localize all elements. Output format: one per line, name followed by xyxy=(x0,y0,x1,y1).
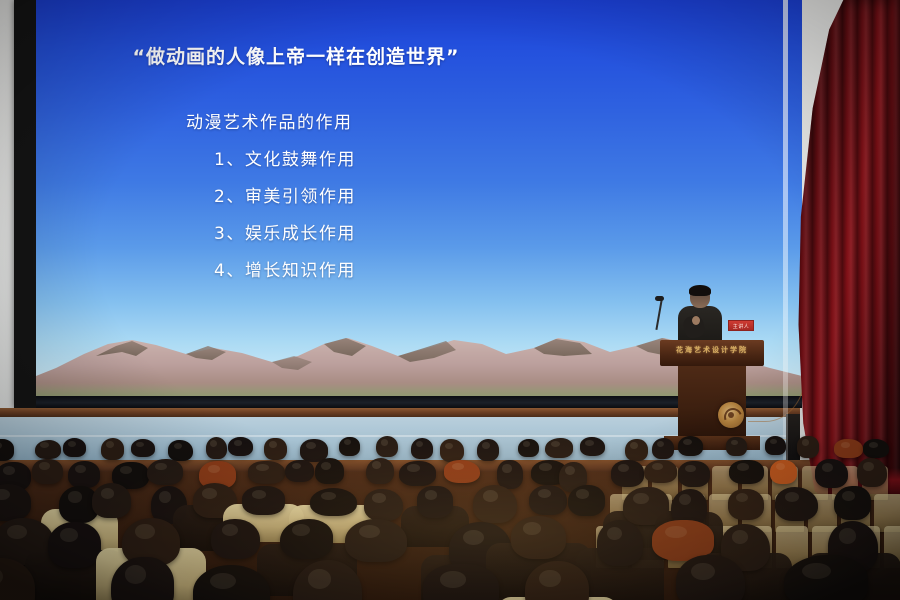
audience-member-head xyxy=(280,519,333,559)
audience-member-head xyxy=(678,461,710,487)
audience-member-head xyxy=(611,460,645,487)
audience-member-head xyxy=(678,436,703,456)
audience-member-head xyxy=(784,555,868,600)
audience-member-head xyxy=(0,439,14,460)
audience-member-head xyxy=(775,487,818,521)
audience-member-head xyxy=(131,439,155,457)
audience-member-head xyxy=(68,461,100,488)
audience-member-head xyxy=(35,440,61,459)
audience-member-head xyxy=(473,485,517,524)
slide-title: “做动画的人像上帝一样在创造世界” xyxy=(36,42,556,69)
audience-member-head xyxy=(206,437,227,459)
name-placard: 主讲人 xyxy=(728,320,754,331)
audience-member-head xyxy=(729,460,764,485)
slide-body: 动漫艺术作品的作用 1、文化鼓舞作用 2、审美引领作用 3、娱乐成长作用 4、增… xyxy=(186,108,606,293)
presenter-figure: 主讲人 xyxy=(676,286,724,344)
slide-lead-line: 动漫艺术作品的作用 xyxy=(186,108,606,133)
audience-member-head xyxy=(0,484,31,521)
audience-member-head xyxy=(477,439,499,461)
audience-member-head xyxy=(815,459,848,488)
audience-member-head xyxy=(440,439,464,461)
audience-member-head xyxy=(63,438,87,457)
audience-member-head xyxy=(518,439,539,457)
audience-member-head xyxy=(765,436,786,454)
audience-member-head xyxy=(857,458,887,487)
auditorium-scene: “做动画的人像上帝一样在创造世界” 动漫艺术作品的作用 1、文化鼓舞作用 2、审… xyxy=(0,0,900,600)
audience-member-head xyxy=(399,461,436,486)
audience-member-head xyxy=(417,486,453,518)
audience-member-head xyxy=(228,437,253,456)
audience-member-head xyxy=(834,439,862,458)
audience-member-head xyxy=(315,458,344,484)
audience-member-head xyxy=(770,460,797,484)
slide-list-item: 2、审美引领作用 xyxy=(214,182,606,207)
podium-institution-name: 花海艺术设计学院 xyxy=(660,345,764,355)
audience-member-head xyxy=(92,483,132,518)
audience-member-head xyxy=(264,438,286,461)
microphone-icon xyxy=(655,296,664,301)
slide-list-item: 1、文化鼓舞作用 xyxy=(214,145,606,170)
presenter-hair xyxy=(689,285,711,296)
audience-member-head xyxy=(644,460,677,483)
audience-member-head xyxy=(726,437,747,456)
audience-member-head xyxy=(545,438,573,458)
audience-member-head xyxy=(568,485,605,516)
audience-member-head xyxy=(411,438,433,459)
audience-member-head xyxy=(728,489,764,520)
audience-member-head xyxy=(147,459,183,485)
audience-member-head xyxy=(48,522,100,568)
audience-member-head xyxy=(497,460,524,489)
audience-member-head xyxy=(797,436,819,458)
audience-member-head xyxy=(310,488,357,517)
audience-member-head xyxy=(339,437,360,456)
audience-member-head xyxy=(366,458,394,485)
audience-member-head xyxy=(444,460,480,483)
audience-member-head xyxy=(597,520,643,565)
audience-member-head xyxy=(376,436,398,457)
audience-member-head xyxy=(32,459,63,484)
audience-member-head xyxy=(529,485,567,515)
audience-member-head xyxy=(345,519,407,562)
presenter-hand xyxy=(692,316,700,325)
name-placard-text: 主讲人 xyxy=(729,323,753,330)
audience-member-head xyxy=(248,461,285,484)
audience-member-head xyxy=(580,437,605,456)
audience-member-head xyxy=(285,460,314,483)
audience-member-head xyxy=(168,440,192,461)
audience-member-head xyxy=(834,486,870,520)
audience-member-head xyxy=(211,519,259,559)
audience-member-head xyxy=(511,516,566,558)
audience-member-head xyxy=(364,489,404,521)
audience-member-head xyxy=(242,486,285,515)
audience-member-head xyxy=(423,564,499,600)
audience-member-head xyxy=(863,439,890,458)
audience-member-head xyxy=(625,439,647,461)
audience-member-head xyxy=(652,438,674,459)
slide-list-item: 4、增长知识作用 xyxy=(214,256,606,281)
curtain-edge-highlight xyxy=(783,0,788,470)
slide-list-item: 3、娱乐成长作用 xyxy=(214,219,606,244)
audience-member-head xyxy=(101,438,124,460)
audience-area xyxy=(0,420,900,600)
